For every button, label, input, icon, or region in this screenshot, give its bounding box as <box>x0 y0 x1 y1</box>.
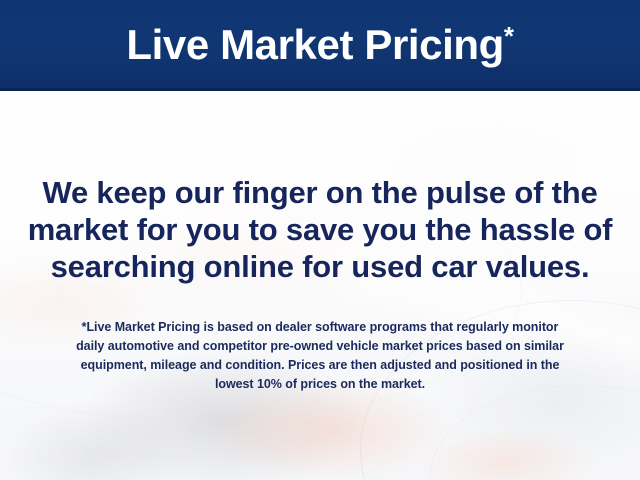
live-market-pricing-promo-card: Live Market Pricing* We keep our finger … <box>0 0 640 480</box>
disclaimer-line-2: daily automotive and competitor pre-owne… <box>20 337 620 356</box>
disclaimer-block: *Live Market Pricing is based on dealer … <box>20 318 620 394</box>
disclaimer-line-3: equipment, mileage and condition. Prices… <box>20 356 620 375</box>
headline-block: We keep our finger on the pulse of the m… <box>0 174 640 285</box>
disclaimer-line-4: lowest 10% of prices on the market. <box>20 375 620 394</box>
page-title-text: Live Market Pricing <box>126 21 504 68</box>
page-title-asterisk: * <box>504 21 514 51</box>
disclaimer-line-1: *Live Market Pricing is based on dealer … <box>20 318 620 337</box>
page-title: Live Market Pricing* <box>126 23 513 66</box>
headline-line-1: We keep our finger on the pulse of the <box>0 174 640 211</box>
header-banner: Live Market Pricing* <box>0 0 640 88</box>
headline-line-3: searching online for used car values. <box>0 248 640 285</box>
header-banner-underline <box>0 88 640 91</box>
headline-line-2: market for you to save you the hassle of <box>0 211 640 248</box>
